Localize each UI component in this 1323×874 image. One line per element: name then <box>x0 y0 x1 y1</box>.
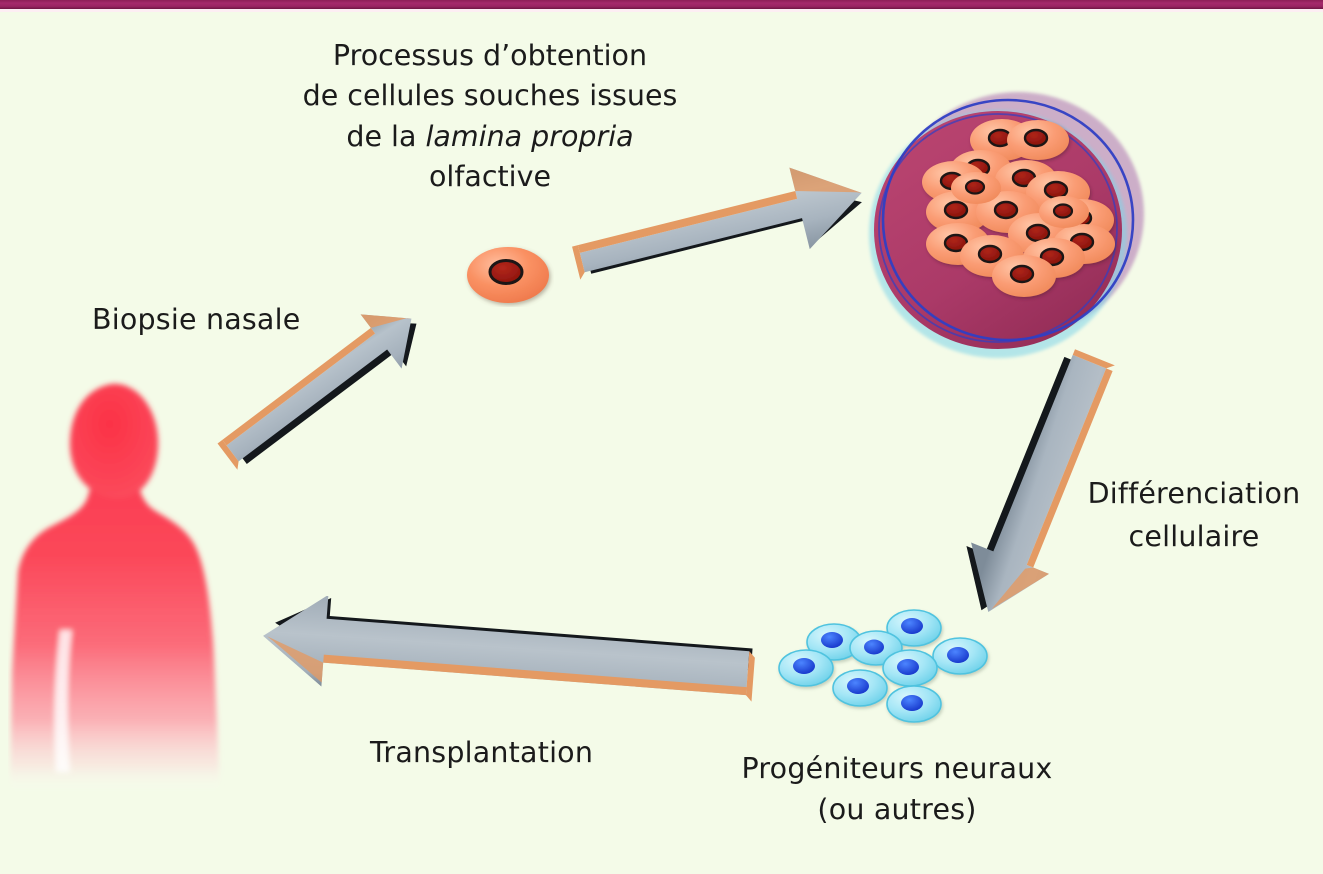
stem-cell-icon <box>462 243 554 307</box>
title-line-3-prefix: de la <box>346 120 425 153</box>
title-line-4: olfactive <box>429 160 551 193</box>
label-progeniteurs-line1: Progéniteurs neuraux <box>742 752 1053 785</box>
arrow-differenciation-cellulaire <box>930 334 1150 634</box>
label-transplantation: Transplantation <box>370 733 593 772</box>
progenitor-cells-icon <box>768 606 1020 726</box>
culture-dish-icon <box>858 88 1154 370</box>
figure-canvas: Processus d’obtention de cellules souche… <box>0 0 1323 874</box>
arrow-mise-en-culture <box>556 158 886 298</box>
top-accent-underline <box>0 9 1323 12</box>
title-line-1: Processus d’obtention <box>333 39 647 72</box>
label-progeniteurs-neuraux: Progéniteurs neuraux (ou autres) <box>738 748 1056 831</box>
top-accent-bar <box>0 0 1323 9</box>
arrow-biopsie-nasale <box>180 262 480 498</box>
arrow-transplantation <box>228 596 768 722</box>
label-progeniteurs-line2: (ou autres) <box>817 793 976 826</box>
title-line-3-italic: lamina propria <box>426 120 634 153</box>
title-line-2: de cellules souches issues <box>303 79 678 112</box>
